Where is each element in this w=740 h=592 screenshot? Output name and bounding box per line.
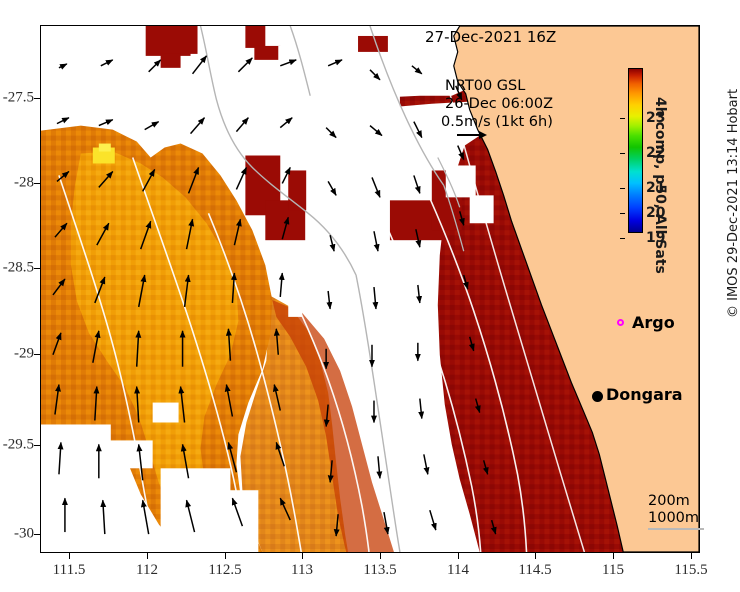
quiver-key-arrow <box>457 134 489 136</box>
x-tick-6 <box>535 553 536 559</box>
x-tick-5 <box>458 553 459 559</box>
x-tick-8 <box>691 553 692 559</box>
map-canvas <box>41 26 699 552</box>
x-tick-3 <box>302 553 303 559</box>
y-tick-5 <box>34 534 40 535</box>
x-label-5: 114 <box>447 562 469 579</box>
x-label-1: 112 <box>136 562 158 579</box>
y-tick-3 <box>34 354 40 355</box>
depth-key-rule <box>648 528 704 530</box>
y-label-0: -27.5 <box>3 90 34 107</box>
source-line-1: NRT00 GSL <box>445 78 525 94</box>
x-label-6: 114.5 <box>518 562 551 579</box>
depth-key-200m: 200m <box>648 493 704 510</box>
argo-label: Argo <box>632 313 675 332</box>
dongara-label: Dongara <box>606 385 683 404</box>
x-label-2: 112.5 <box>208 562 241 579</box>
y-label-2: -28.5 <box>3 260 34 277</box>
y-tick-0 <box>34 98 40 99</box>
argo-marker-icon[interactable] <box>617 319 624 326</box>
y-tick-1 <box>34 183 40 184</box>
x-label-4: 113.5 <box>363 562 396 579</box>
x-tick-7 <box>613 553 614 559</box>
source-line-2: 26-Dec 06:00Z <box>445 96 553 112</box>
y-label-1: -28 <box>14 175 34 192</box>
date-stamp-label: 27-Dec-2021 16Z <box>425 28 556 46</box>
x-tick-4 <box>380 553 381 559</box>
quiver-key-head <box>479 131 487 139</box>
colorbar <box>628 68 643 233</box>
y-label-4: -29.5 <box>3 437 34 454</box>
x-tick-1 <box>147 553 148 559</box>
y-label-3: -29 <box>14 346 34 363</box>
depth-key-1000m: 1000m <box>648 510 704 527</box>
dongara-marker-icon[interactable] <box>592 391 603 402</box>
sst-map-figure: 27-Dec-2021 16Z NRT00 GSL 26-Dec 06:00Z … <box>0 0 740 592</box>
colorbar-tick-20 <box>620 213 625 214</box>
depth-contour-key: 200m 1000m <box>648 493 704 530</box>
y-label-5: -30 <box>14 526 34 543</box>
x-tick-2 <box>225 553 226 559</box>
x-label-0: 111.5 <box>53 562 86 579</box>
x-label-7: 115 <box>602 562 624 579</box>
source-line-3: 0.5m/s (1kt 6h) <box>441 114 553 130</box>
colorbar-title: 4h comp, p50, All Sats <box>652 97 668 274</box>
y-tick-2 <box>34 268 40 269</box>
x-tick-0 <box>69 553 70 559</box>
colorbar-tick-23 <box>620 118 625 119</box>
colorbar-tick-21 <box>620 188 625 189</box>
colorbar-tick-22 <box>620 153 625 154</box>
y-tick-4 <box>34 445 40 446</box>
copyright-label: © IMOS 29-Dec-2021 13:14 Hobart <box>726 89 740 318</box>
x-label-8: 115.5 <box>674 562 707 579</box>
colorbar-tick-19 <box>620 238 625 239</box>
x-label-3: 113 <box>291 562 313 579</box>
map-plot-area[interactable] <box>40 25 700 553</box>
